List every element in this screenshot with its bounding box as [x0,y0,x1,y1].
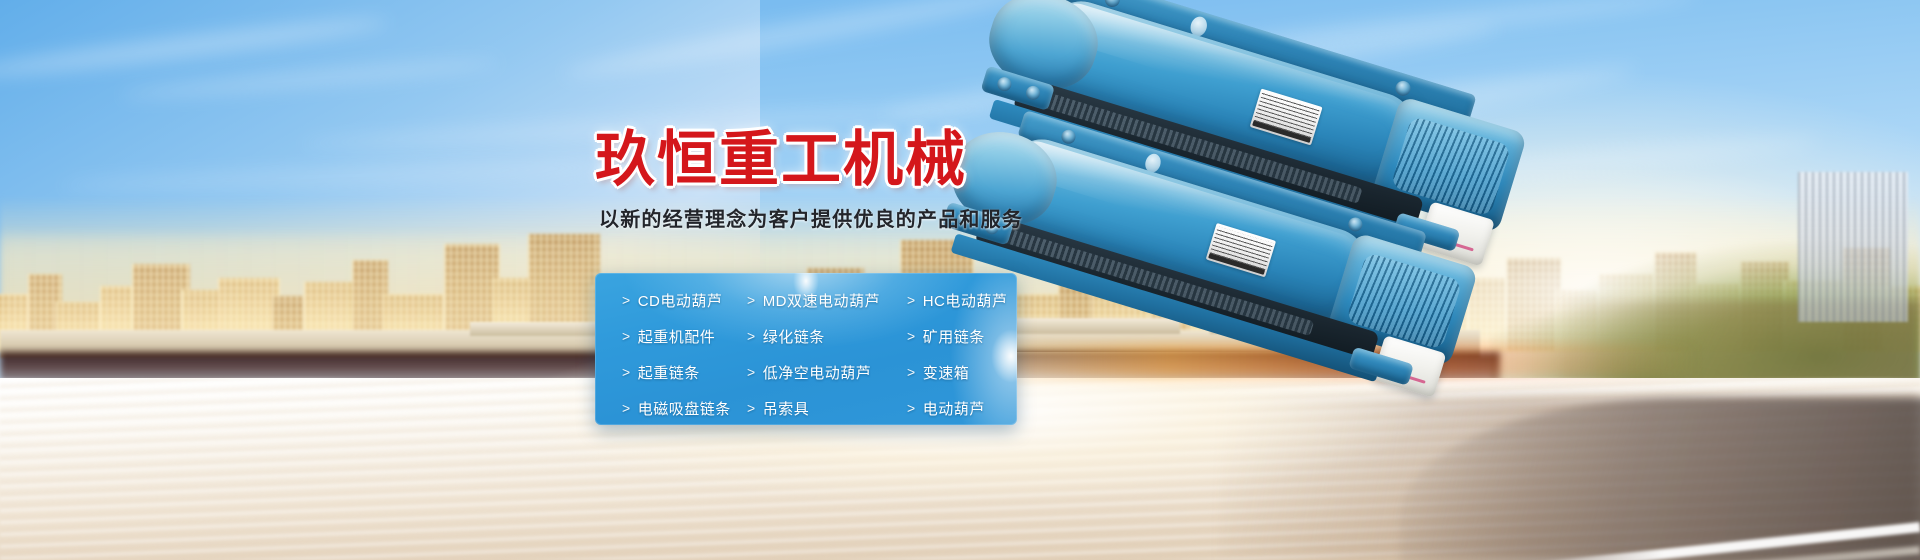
chevron-right-icon: > [747,364,756,380]
product-link-label: CD电动葫芦 [638,290,723,311]
product-link-label: MD双速电动葫芦 [763,290,880,311]
product-links-panel: >CD电动葫芦>MD双速电动葫芦>HC电动葫芦>起重机配件>绿化链条>矿用链条>… [595,273,1017,425]
product-link-label: 电磁吸盘链条 [638,398,731,419]
product-link-label: 起重机配件 [638,326,716,347]
chevron-right-icon: > [907,328,916,344]
chevron-right-icon: > [747,292,756,308]
product-link[interactable]: >起重链条 [622,354,747,390]
product-link-label: 电动葫芦 [923,398,985,419]
product-link[interactable]: >CD电动葫芦 [622,282,747,318]
chevron-right-icon: > [622,364,631,380]
chevron-right-icon: > [622,400,631,416]
chevron-right-icon: > [747,400,756,416]
product-link[interactable]: >MD双速电动葫芦 [747,282,907,318]
product-link[interactable]: >起重机配件 [622,318,747,354]
product-link-label: 起重链条 [638,362,700,383]
product-link-label: 变速箱 [923,362,970,383]
product-link[interactable]: >电磁吸盘链条 [622,390,747,425]
headline-block: 玖恒重工机械 以新的经营理念为客户提供优良的产品和服务 [595,128,1015,232]
background-tower-building [1798,172,1908,322]
page-subtitle: 以新的经营理念为客户提供优良的产品和服务 [599,203,1015,232]
product-link[interactable]: >矿用链条 [907,318,1017,354]
chevron-right-icon: > [907,400,916,416]
chevron-right-icon: > [907,364,916,380]
product-link[interactable]: >绿化链条 [747,318,907,354]
chevron-right-icon: > [622,292,631,308]
product-link-label: 矿用链条 [923,326,985,347]
chevron-right-icon: > [622,328,631,344]
product-link[interactable]: >电动葫芦 [907,390,1017,425]
page-title: 玖恒重工机械 [595,128,1015,191]
product-link[interactable]: >变速箱 [907,354,1017,390]
product-links-grid: >CD电动葫芦>MD双速电动葫芦>HC电动葫芦>起重机配件>绿化链条>矿用链条>… [595,273,1017,425]
product-link-label: 绿化链条 [763,326,825,347]
product-link[interactable]: >吊索具 [747,390,907,425]
hero-banner: 玖恒重工机械 以新的经营理念为客户提供优良的产品和服务 >CD电动葫芦>MD双速… [0,0,1920,560]
product-link-label: HC电动葫芦 [923,290,1008,311]
chevron-right-icon: > [747,328,756,344]
product-link[interactable]: >低净空电动葫芦 [747,354,907,390]
product-link-label: 吊索具 [763,398,810,419]
product-link-label: 低净空电动葫芦 [763,362,872,383]
chevron-right-icon: > [907,292,916,308]
product-link[interactable]: >HC电动葫芦 [907,282,1017,318]
